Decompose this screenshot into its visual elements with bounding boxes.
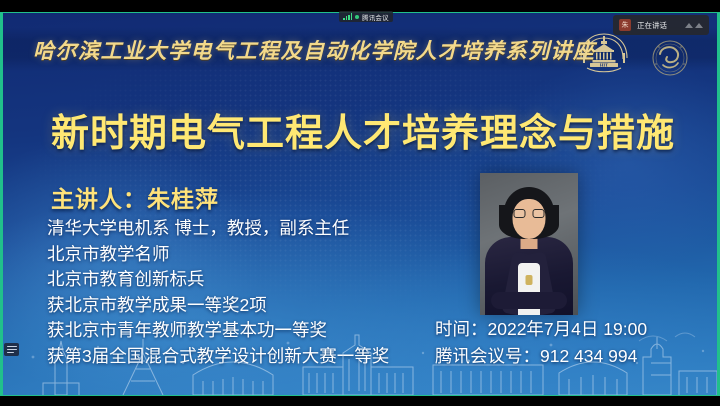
speaking-status-label: 正在讲话 — [637, 20, 667, 31]
bio-line: 北京市教育创新标兵 — [47, 267, 467, 293]
svg-text:HIT: HIT — [600, 63, 608, 68]
bio-line: 北京市教学名师 — [47, 242, 467, 268]
slide-main-title: 新时期电气工程人才培养理念与措施 — [51, 111, 691, 157]
slide-speaker-name: 主讲人：朱桂萍 — [51, 180, 219, 214]
tencent-meeting-status-pill[interactable]: 腾讯会议 — [339, 11, 393, 22]
slide-header-banner-text: 哈尔滨工业大学电气工程及自动化学院人才培养系列讲座 — [33, 35, 593, 67]
tencent-meeting-label: 腾讯会议 — [362, 12, 389, 22]
avatar: 朱 — [619, 19, 631, 31]
presentation-slide: 哈尔滨工业大学电气工程及自动化学院人才培养系列讲座 — [3, 13, 717, 395]
audio-wave-icon — [685, 23, 703, 28]
meeting-screen-share: 哈尔滨工业大学电气工程及自动化学院人才培养系列讲座 — [0, 0, 720, 406]
recording-dot-icon — [355, 15, 359, 19]
letterbox-bottom — [0, 396, 720, 406]
participant-list-icon[interactable] — [4, 343, 19, 356]
city-skyline-illustration — [3, 323, 717, 395]
department-round-logo — [645, 35, 695, 81]
active-speaker-toast[interactable]: 朱 正在讲话 — [613, 15, 709, 35]
bio-line: 获北京市教学成果一等奖2项 — [47, 293, 467, 319]
signal-bars-icon — [343, 13, 352, 20]
hit-university-logo: HIT — [576, 30, 632, 76]
speaker-portrait-photo — [480, 173, 578, 315]
bio-line: 清华大学电机系 博士，教授，副系主任 — [47, 216, 467, 242]
